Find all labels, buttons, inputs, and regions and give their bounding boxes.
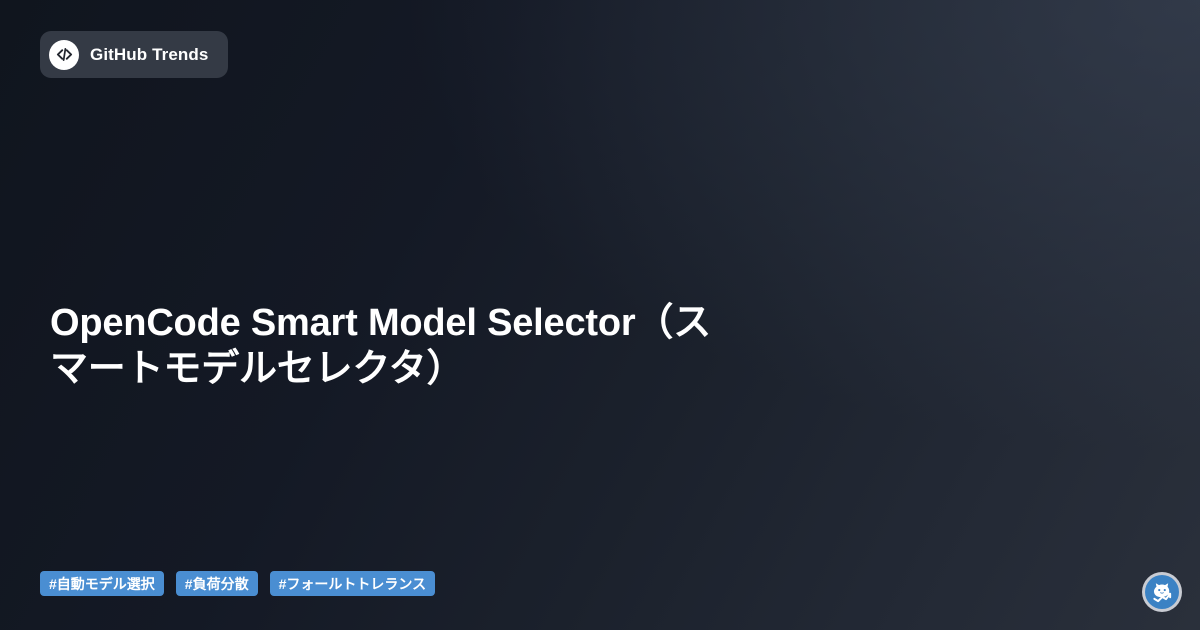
hero-section: OpenCode Smart Model Selector（スマートモデルセレク… xyxy=(50,300,1070,393)
tag-item[interactable]: #フォールトトレランス xyxy=(270,571,436,596)
code-brackets-icon xyxy=(49,40,79,70)
cat-trend-logo-icon xyxy=(1145,575,1179,609)
tag-item[interactable]: #自動モデル選択 xyxy=(40,571,164,596)
source-badge-label: GitHub Trends xyxy=(90,45,208,65)
social-share-card: GitHub Trends OpenCode Smart Model Selec… xyxy=(0,0,1200,630)
source-badge[interactable]: GitHub Trends xyxy=(40,31,228,78)
tag-list: #自動モデル選択 #負荷分散 #フォールトトレランス xyxy=(40,571,435,596)
tag-item[interactable]: #負荷分散 xyxy=(176,571,258,596)
brand-logo[interactable] xyxy=(1142,572,1182,612)
page-title: OpenCode Smart Model Selector（スマートモデルセレク… xyxy=(50,300,730,393)
